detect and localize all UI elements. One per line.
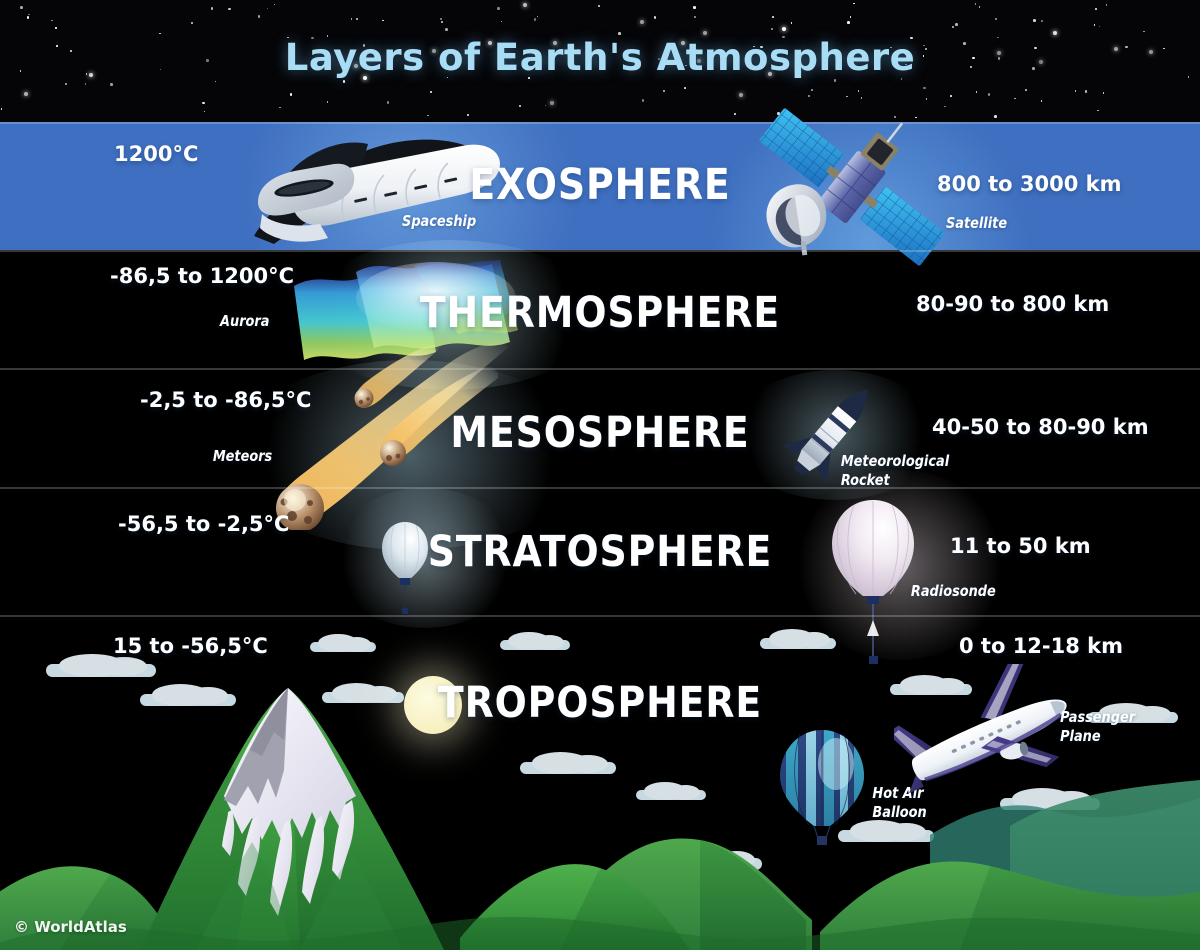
object-label-radiosonde: Radiosonde [911, 582, 996, 601]
temperature-label-thermosphere: -86,5 to 1200°C [110, 264, 294, 288]
object-label-satellite: Satellite [946, 214, 1007, 233]
band-separator [0, 487, 1200, 489]
altitude-label-mesosphere: 40-50 to 80-90 km [932, 415, 1149, 439]
page-title: Layers of Earth's Atmosphere [0, 36, 1200, 79]
altitude-label-stratosphere: 11 to 50 km [950, 534, 1091, 558]
object-label-spaceship: Spaceship [402, 212, 476, 231]
band-separator [0, 122, 1200, 124]
watermark: © WorldAtlas [14, 918, 127, 936]
object-label-meteors: Meteors [213, 447, 272, 466]
band-separator [0, 615, 1200, 617]
object-label-rocket: Meteorological Rocket [841, 452, 949, 490]
altitude-label-thermosphere: 80-90 to 800 km [916, 292, 1109, 316]
atmosphere-infographic: Layers of Earth's Atmosphere [0, 0, 1200, 950]
object-label-aurora: Aurora [220, 312, 269, 331]
band-separator [0, 250, 1200, 252]
mountain-icon [0, 620, 1200, 950]
band-separator [0, 368, 1200, 370]
altitude-label-exosphere: 800 to 3000 km [937, 172, 1122, 196]
